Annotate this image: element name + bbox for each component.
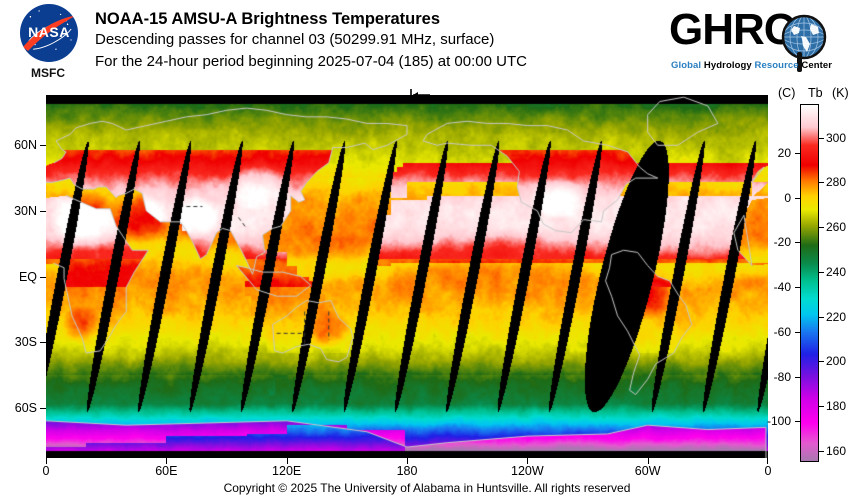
copyright-notice: Copyright © 2025 The University of Alaba… — [0, 481, 854, 495]
longitude-label: 120W — [511, 464, 544, 478]
colorbar-tick-kelvin — [819, 317, 824, 318]
ghrc-subtitle: Global Hydrology Resource Center — [671, 60, 832, 71]
nasa-center-label: MSFC — [12, 66, 84, 80]
colorbar-label-celsius: -100 — [0, 414, 791, 428]
longitude-label: 180 — [397, 464, 418, 478]
latitude-label: 30N — [14, 204, 37, 218]
colorbar-tick-celsius — [795, 242, 800, 243]
colorbar-label-kelvin: 220 — [826, 310, 846, 324]
title-block: NOAA-15 AMSU-A Brightness Temperatures D… — [95, 9, 527, 73]
colorbar-label-kelvin: 160 — [826, 444, 846, 458]
colorbar-label-celsius: 20 — [0, 146, 791, 160]
colorbar-tick-kelvin — [819, 361, 824, 362]
colorbar — [800, 104, 819, 462]
colorbar-tick-kelvin — [819, 227, 824, 228]
latitude-label: 60S — [15, 401, 37, 415]
latitude-tick — [40, 408, 46, 409]
ghrc-sub-global: Global — [671, 60, 704, 71]
colorbar-unit-kelvin: (K) — [832, 86, 849, 100]
longitude-label: 0 — [43, 464, 50, 478]
colorbar-tick-kelvin — [819, 406, 824, 407]
ghrc-wordmark: GHRC — [669, 8, 795, 52]
latitude-tick — [40, 342, 46, 343]
colorbar-tick-celsius — [795, 421, 800, 422]
colorbar-tick-celsius — [795, 377, 800, 378]
subtitle-period: For the 24-hour period beginning 2025-07… — [95, 51, 527, 73]
ghrc-sub-hydrology: Hydrology — [704, 60, 755, 71]
colorbar-label-kelvin: 180 — [826, 399, 846, 413]
colorbar-tick-celsius — [795, 287, 800, 288]
colorbar-label-kelvin: 240 — [826, 265, 846, 279]
ghrc-sub-resource: Resource — [755, 60, 802, 71]
ghrc-logo: GHRC Global Hydrology Resour — [669, 8, 834, 80]
nasa-logo: NASA MSFC — [12, 4, 84, 84]
colorbar-tick-celsius — [795, 153, 800, 154]
colorbar-label-kelvin: 260 — [826, 220, 846, 234]
longitude-label: 60W — [635, 464, 661, 478]
latitude-tick — [40, 277, 46, 278]
subtitle-channel: Descending passes for channel 03 (50299.… — [95, 29, 527, 51]
longitude-label: 60E — [155, 464, 177, 478]
latitude-tick — [40, 211, 46, 212]
colorbar-tick-kelvin — [819, 182, 824, 183]
colorbar-label-kelvin: 300 — [826, 131, 846, 145]
colorbar-tick-kelvin — [819, 272, 824, 273]
page-title: NOAA-15 AMSU-A Brightness Temperatures — [95, 9, 527, 29]
colorbar-label-kelvin: 280 — [826, 175, 846, 189]
longitude-label: 0 — [765, 464, 772, 478]
ghrc-sub-center: Center — [801, 60, 832, 71]
colorbar-tick-kelvin — [819, 138, 824, 139]
colorbar-label-celsius: -40 — [0, 280, 791, 294]
header: NASA MSFC NOAA-15 AMSU-A Brightness Temp… — [0, 0, 854, 92]
colorbar-tick-celsius — [795, 332, 800, 333]
colorbar-label-celsius: 0 — [0, 191, 791, 205]
longitude-label: 120E — [272, 464, 301, 478]
nasa-meatball-icon: NASA — [20, 4, 78, 62]
cursor-arrow-icon — [409, 88, 431, 102]
colorbar-label-kelvin: 200 — [826, 354, 846, 368]
colorbar-unit-celsius: (C) — [778, 86, 795, 100]
colorbar-unit-tb: Tb — [808, 86, 823, 100]
nasa-wordmark: NASA — [20, 24, 78, 40]
globe-icon — [781, 14, 827, 60]
colorbar-tick-celsius — [795, 198, 800, 199]
colorbar-tick-kelvin — [819, 451, 824, 452]
colorbar-label-celsius: -60 — [0, 325, 791, 339]
colorbar-label-celsius: -80 — [0, 370, 791, 384]
colorbar-label-celsius: -20 — [0, 235, 791, 249]
colorbar-units: (C) Tb (K) — [778, 86, 854, 102]
